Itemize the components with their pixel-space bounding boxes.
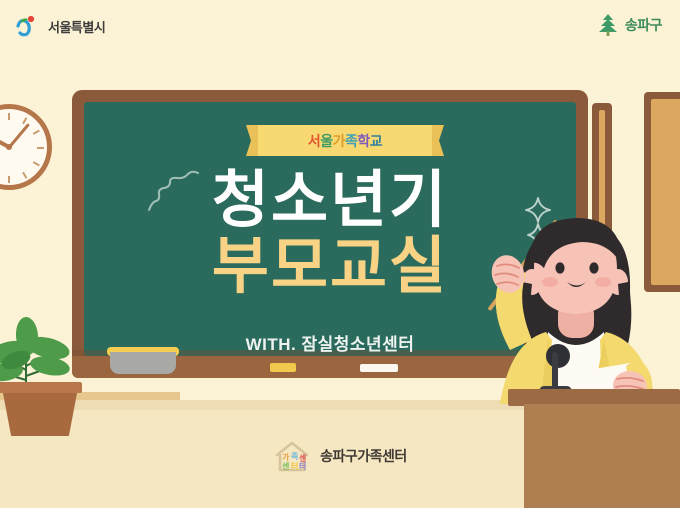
chalk-squiggle-icon bbox=[146, 168, 206, 217]
svg-text:터: 터 bbox=[291, 461, 298, 471]
seoul-family-school-ribbon: 서울가족학교 bbox=[258, 125, 432, 156]
teacher-illustration bbox=[470, 190, 680, 420]
songpa-gu-logo-label: 송파구 bbox=[625, 15, 662, 35]
seoul-city-logo: 서울특별시 bbox=[16, 13, 105, 39]
microphone-icon bbox=[546, 344, 570, 368]
songpa-family-center-house-icon: 가 족 센 센 터 터 bbox=[273, 438, 311, 474]
svg-text:센: 센 bbox=[282, 461, 289, 471]
plant-pot-rim bbox=[0, 382, 82, 393]
ribbon-char-0: 서 bbox=[308, 133, 320, 149]
songpa-pine-tree-icon bbox=[597, 13, 619, 37]
board-eraser bbox=[110, 352, 176, 374]
svg-text:터: 터 bbox=[299, 461, 306, 471]
songpa-gu-logo: 송파구 bbox=[597, 13, 662, 37]
seoul-city-logo-label: 서울특별시 bbox=[48, 17, 105, 36]
ribbon-char-2: 가 bbox=[333, 133, 345, 149]
ribbon-char-5: 교 bbox=[370, 133, 382, 149]
songpa-family-center-logo: 가 족 센 센 터 터 송파구가족센터 bbox=[0, 438, 680, 474]
eye-left bbox=[555, 262, 564, 273]
ribbon-char-3: 족 bbox=[345, 133, 357, 149]
plant-pot bbox=[2, 388, 78, 436]
ribbon-char-1: 울 bbox=[320, 133, 332, 149]
chalk-white bbox=[360, 364, 398, 372]
ribbon-char-4: 학 bbox=[357, 133, 369, 149]
poster-canvas: 서울특별시 송파구 bbox=[0, 0, 680, 508]
eye-right bbox=[589, 262, 598, 273]
svg-text:가: 가 bbox=[282, 452, 290, 462]
seoul-city-emblem-icon bbox=[16, 13, 42, 39]
ribbon-label: 서울가족학교 bbox=[308, 131, 382, 151]
svg-text:족: 족 bbox=[291, 452, 299, 461]
chalk-yellow bbox=[270, 363, 296, 372]
songpa-family-center-label: 송파구가족센터 bbox=[320, 446, 407, 466]
